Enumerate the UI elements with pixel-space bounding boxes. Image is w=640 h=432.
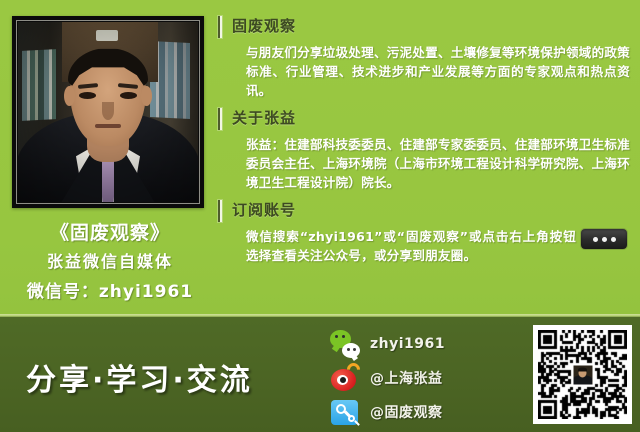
social-row-weibo[interactable]: @上海张益: [330, 361, 495, 394]
section-accent-bar: [218, 200, 222, 222]
section-body: 与朋友们分享垃圾处理、污泥处置、土壤修复等环境保护领域的政策标准、行业管理、技术…: [246, 43, 630, 100]
wechat-profile-card: 《固废观察》 张益微信自媒体 微信号：zhyi1961 固废观察 与朋友们分享垃…: [0, 0, 640, 432]
section-body: 张益：住建部科技委委员、住建部专家委委员、住建部环境卫生标准委员会主任、上海环境…: [246, 135, 630, 192]
wechat-id-line: 微信号：zhyi1961: [12, 279, 208, 305]
wechat-icon: [330, 329, 360, 359]
social-label: @固废观察: [370, 402, 443, 422]
section-header: 关于张益: [218, 106, 630, 134]
left-column: 《固废观察》 张益微信自媒体 微信号：zhyi1961: [12, 16, 208, 306]
social-label: @上海张益: [370, 368, 443, 388]
social-label: zhyi1961: [370, 336, 445, 352]
section-subscribe: 订阅账号 微信搜索“zhyi1961”或“固废观察”或点击右上角按钮选择查看关注…: [218, 198, 630, 265]
portrait-photo: [18, 22, 198, 202]
photo-vignette: [18, 22, 198, 202]
qr-center-avatar: [572, 364, 593, 385]
social-links: zhyi1961 @上海张益 @固废观察: [330, 327, 495, 429]
social-row-tencent-weibo[interactable]: @固废观察: [330, 395, 495, 428]
account-subtitle: 张益微信自媒体: [12, 249, 208, 275]
section-body: 微信搜索“zhyi1961”或“固废观察”或点击右上角按钮选择查看关注公众号，或…: [246, 227, 576, 265]
section-title: 固废观察: [232, 17, 296, 35]
section-title: 订阅账号: [232, 201, 296, 219]
section-header: 订阅账号: [218, 198, 630, 226]
social-row-wechat[interactable]: zhyi1961: [330, 327, 495, 360]
qr-matrix: [538, 330, 627, 419]
more-dot: [602, 237, 607, 242]
footer-bar: 分享·学习·交流 zhyi1961 @上海张益: [0, 317, 640, 432]
more-dot: [593, 237, 598, 242]
section-guifei-guancha: 固废观察 与朋友们分享垃圾处理、污泥处置、土壤修复等环境保护领域的政策标准、行业…: [218, 14, 630, 100]
weibo-icon: [330, 363, 360, 393]
section-accent-bar: [218, 108, 222, 130]
tencent-weibo-icon: [330, 397, 360, 427]
section-title: 关于张益: [232, 109, 296, 127]
top-section: 《固废观察》 张益微信自媒体 微信号：zhyi1961 固废观察 与朋友们分享垃…: [0, 0, 640, 316]
wechat-qr-code[interactable]: [533, 325, 632, 424]
account-title: 《固废观察》: [12, 220, 208, 246]
more-dot: [611, 237, 616, 242]
section-header: 固废观察: [218, 14, 630, 42]
section-accent-bar: [218, 16, 222, 38]
profile-titles: 《固废观察》 张益微信自媒体 微信号：zhyi1961: [12, 220, 208, 305]
portrait-photo-frame: [12, 16, 204, 208]
section-about-zhangyi: 关于张益 张益：住建部科技委委员、住建部专家委委员、住建部环境卫生标准委员会主任…: [218, 106, 630, 192]
footer-slogan: 分享·学习·交流: [26, 355, 253, 399]
sections-column: 固废观察 与朋友们分享垃圾处理、污泥处置、土壤修复等环境保护领域的政策标准、行业…: [218, 14, 630, 271]
more-options-button[interactable]: [580, 228, 628, 250]
